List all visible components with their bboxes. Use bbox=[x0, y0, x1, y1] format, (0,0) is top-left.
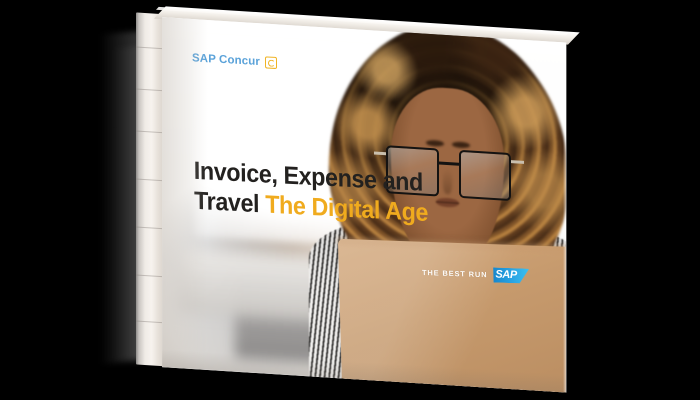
ebook-3d-mockup[interactable]: THE BEST RUN SAP SAP Concur Invoice, Exp… bbox=[136, 4, 566, 397]
sap-logo: SAP bbox=[493, 267, 529, 283]
headline-line-2-dark-text: Travel bbox=[194, 187, 259, 218]
sap-logo-text: SAP bbox=[495, 269, 517, 283]
cover-right-rim-light bbox=[563, 42, 566, 392]
eyebrow-left bbox=[426, 140, 444, 147]
sap-tagline: THE BEST RUN bbox=[422, 268, 488, 279]
laptop-lid bbox=[338, 238, 566, 392]
mockup-stage: THE BEST RUN SAP SAP Concur Invoice, Exp… bbox=[0, 0, 700, 400]
concur-c-mark-icon bbox=[265, 57, 277, 70]
eyeglass-bridge bbox=[439, 162, 459, 166]
laptop-sheen bbox=[338, 238, 566, 392]
book-front-cover[interactable]: THE BEST RUN SAP SAP Concur Invoice, Exp… bbox=[162, 17, 566, 392]
eyebrow-right bbox=[452, 141, 470, 148]
